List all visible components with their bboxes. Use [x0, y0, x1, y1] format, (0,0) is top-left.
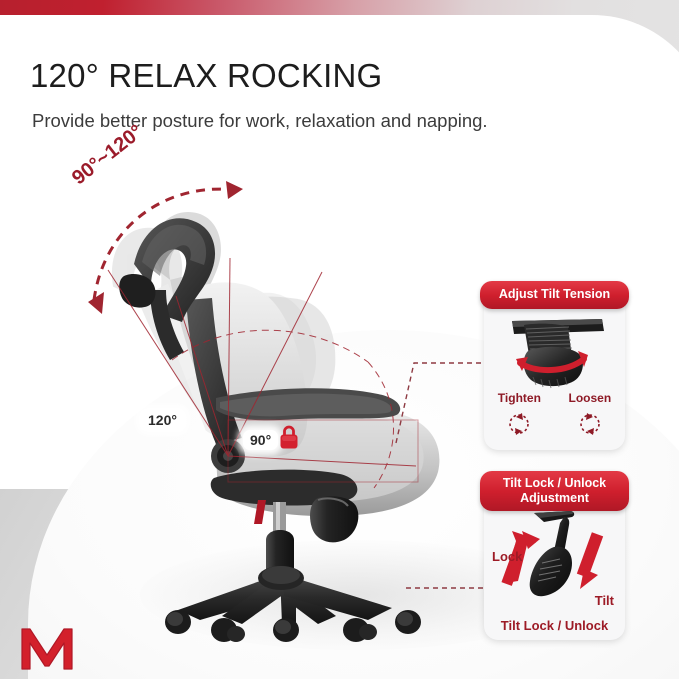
- brand-logo-m: [18, 625, 76, 671]
- callout-2-caption: Tilt Lock / Unlock: [484, 618, 625, 633]
- callout-2-body: Lock Tilt Tilt Lock / Unlock: [484, 505, 625, 640]
- callout-1-body: Tighten Loosen: [484, 315, 625, 450]
- page-title: 120° RELAX ROCKING: [30, 57, 382, 95]
- tighten-label: Tighten: [498, 391, 541, 405]
- callout-2-header-line2: Adjustment: [480, 491, 629, 506]
- angle-label-min: 90°: [243, 430, 278, 450]
- product-infographic: 120° RELAX ROCKING Provide better postur…: [0, 0, 679, 679]
- callout-1-header: Adjust Tilt Tension: [480, 281, 629, 309]
- callout-2-header-line1: Tilt Lock / Unlock: [480, 476, 629, 491]
- callout-adjust-tilt-tension[interactable]: Adjust Tilt Tension: [484, 283, 625, 450]
- rotation-direction-icons: [484, 409, 625, 439]
- padlock-icon: [278, 424, 300, 450]
- tension-direction-labels: Tighten Loosen: [484, 391, 625, 405]
- loosen-label: Loosen: [569, 391, 612, 405]
- rotate-counterclockwise-icon: [575, 409, 605, 439]
- rotate-clockwise-icon: [504, 409, 534, 439]
- tilt-label: Tilt: [595, 593, 614, 608]
- angle-label-max: 120°: [141, 410, 184, 430]
- tension-knob-photo: [484, 315, 625, 393]
- callout-tilt-lock-unlock[interactable]: Tilt Lock / Unlock Adjustment: [484, 473, 625, 640]
- lock-label: Lock: [492, 549, 522, 564]
- tilt-arrow-icon: [577, 532, 603, 589]
- page-subtitle: Provide better posture for work, relaxat…: [32, 110, 488, 132]
